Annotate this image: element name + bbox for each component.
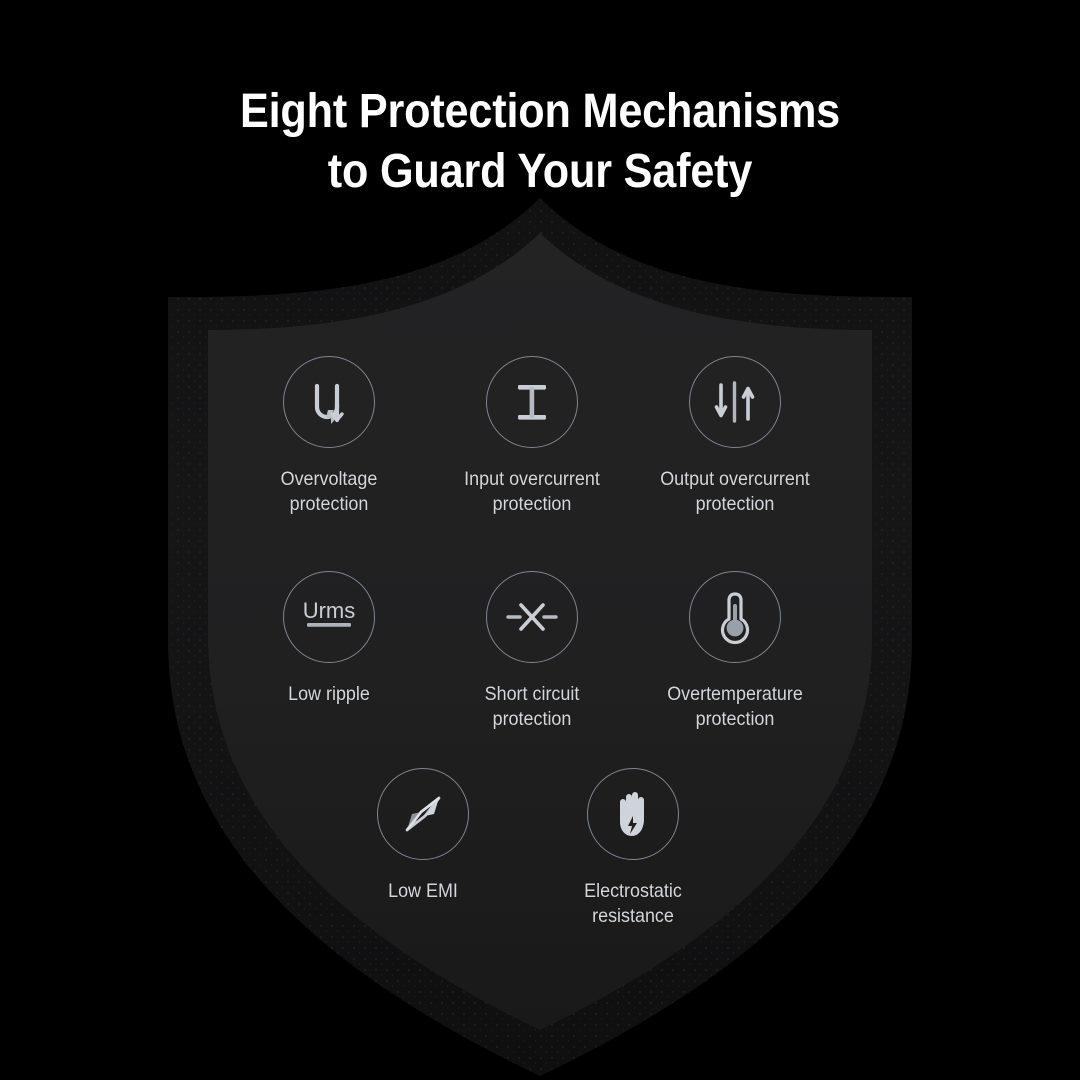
urms-icon: Urms [283,571,375,663]
feature-label: Electrostatic resistance [527,879,739,929]
u-with-down-arrow-icon [283,356,375,448]
crossed-wire-icon [486,571,578,663]
label-line-1: Electrostatic [527,879,739,904]
feature-label: Low ripple [223,682,435,707]
urms-text: Urms [303,598,356,623]
feature-label: Output overcurrent protection [629,467,841,517]
title-line-2: to Guard Your Safety [54,142,1026,202]
label-line-1: Overvoltage [223,467,435,492]
label-line-2: protection [426,492,638,517]
feature-label: Short circuit protection [426,682,638,732]
feature-label: Overtemperature protection [629,682,841,732]
label-line-2: resistance [527,904,739,929]
feature-low-emi[interactable]: Low EMI [308,768,538,904]
label-line-1: Overtemperature [629,682,841,707]
title-line-1: Eight Protection Mechanisms [54,82,1026,142]
feature-short-circuit-protection[interactable]: Short circuit protection [417,571,647,732]
label-line-2: protection [223,492,435,517]
label-line-1: Short circuit [426,682,638,707]
feature-output-overcurrent-protection[interactable]: Output overcurrent protection [620,356,850,517]
label-line-1: Output overcurrent [629,467,841,492]
feature-electrostatic-resistance[interactable]: Electrostatic resistance [518,768,748,929]
i-beam-current-icon [486,356,578,448]
feature-low-ripple[interactable]: Urms Low ripple [214,571,444,707]
feature-label: Input overcurrent protection [426,467,638,517]
feature-overtemperature-protection[interactable]: Overtemperature protection [620,571,850,732]
compass-needle-icon [377,768,469,860]
feature-overvoltage-protection[interactable]: Overvoltage protection [214,356,444,517]
label-line-1: Low ripple [223,682,435,707]
label-line-1: Low EMI [317,879,529,904]
hand-with-lightning-icon [587,768,679,860]
label-line-2: protection [629,492,841,517]
feature-label: Low EMI [317,879,529,904]
label-line-2: protection [629,707,841,732]
feature-input-overcurrent-protection[interactable]: Input overcurrent protection [417,356,647,517]
thermometer-icon [689,571,781,663]
label-line-1: Input overcurrent [426,467,638,492]
poster-canvas: Eight Protection Mechanisms to Guard You… [0,0,1080,1080]
down-up-arrows-icon [689,356,781,448]
label-line-2: protection [426,707,638,732]
page-title: Eight Protection Mechanisms to Guard You… [0,82,1080,202]
feature-label: Overvoltage protection [223,467,435,517]
